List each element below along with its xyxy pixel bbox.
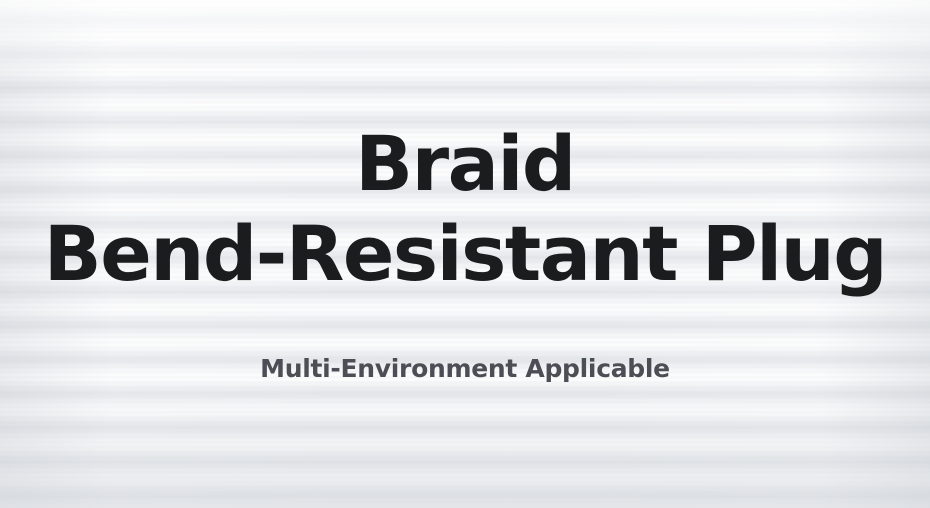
- headline-secondary: Bend-Resistant Plug: [44, 216, 886, 292]
- subheadline: Multi-Environment Applicable: [260, 354, 670, 383]
- product-banner: Braid Bend-Resistant Plug Multi-Environm…: [0, 0, 930, 508]
- banner-content: Braid Bend-Resistant Plug Multi-Environm…: [0, 0, 930, 508]
- headline-primary: Braid: [355, 126, 575, 202]
